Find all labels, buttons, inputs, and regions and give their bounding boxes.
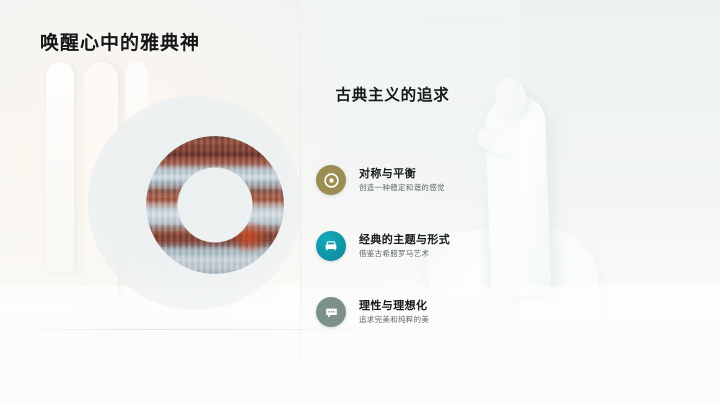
background-column (46, 62, 74, 272)
list-item-subtitle: 追求完美和纯粹的美 (359, 316, 429, 324)
list-item-subtitle: 借鉴古希腊罗马艺术 (359, 250, 450, 258)
presentation-slide: 唤醒心中的雅典神 古典主义的追求 对称与平衡 创造一种稳定和谐的感觉 (0, 0, 720, 404)
list-item-text: 经典的主题与形式 借鉴古希腊罗马艺术 (359, 235, 450, 258)
slide-title: 唤醒心中的雅典神 (40, 28, 200, 55)
list-item[interactable]: 理性与理想化 追求完美和纯粹的美 (316, 290, 516, 334)
list-item-subtitle: 创造一种稳定和谐的感觉 (359, 184, 445, 192)
temple-ring-photo-texture (146, 136, 284, 274)
list-item-title: 理性与理想化 (359, 301, 429, 312)
sofa-icon (316, 231, 346, 261)
list-item-text: 理性与理想化 追求完美和纯粹的美 (359, 301, 429, 324)
list-item[interactable]: 经典的主题与形式 借鉴古希腊罗马艺术 (316, 224, 516, 268)
list-item-title: 对称与平衡 (359, 169, 445, 180)
panel-heading: 古典主义的追求 (300, 83, 485, 105)
list-item-text: 对称与平衡 创造一种稳定和谐的感觉 (359, 169, 445, 192)
temple-ring-photo (146, 136, 284, 274)
content-panel-divider (300, 0, 301, 404)
list-item-title: 经典的主题与形式 (359, 235, 450, 246)
temple-ring-photo-highlight (226, 222, 272, 252)
disc-icon (316, 165, 346, 195)
feature-list: 对称与平衡 创造一种稳定和谐的感觉 经典的主题与形式 借鉴古希腊罗马艺术 (316, 158, 516, 356)
list-item[interactable]: 对称与平衡 创造一种稳定和谐的感觉 (316, 158, 516, 202)
chat-bubble-icon (316, 297, 346, 327)
